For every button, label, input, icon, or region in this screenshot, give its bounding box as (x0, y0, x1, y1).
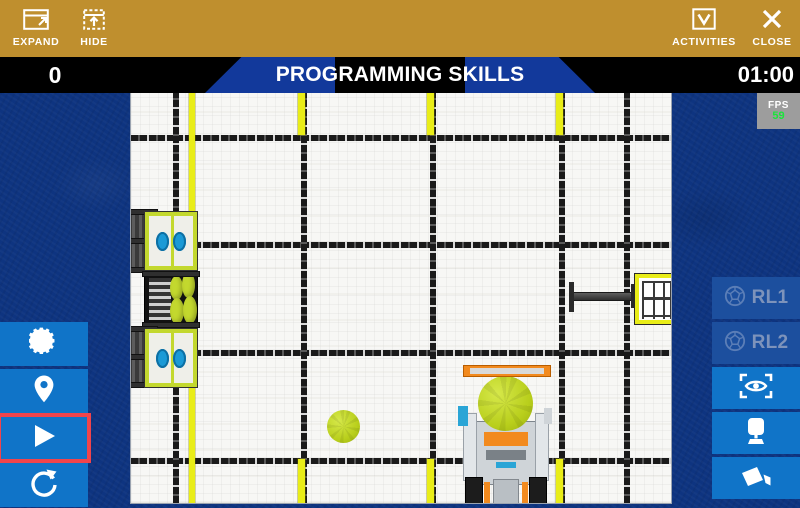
goal-marker (156, 349, 169, 368)
close-x-icon (761, 4, 783, 34)
top-toolbar: EXPAND HIDE ACTIVITIES (0, 0, 800, 57)
goal-bar (642, 281, 671, 283)
soccer-ball-icon (724, 330, 746, 357)
rl2-label: RL2 (752, 332, 789, 354)
tile-seam (430, 93, 436, 503)
goal-marker (173, 349, 186, 368)
tape-strip (556, 93, 563, 135)
match-header: 0 PROGRAMMING SKILLS 01:00 (0, 57, 800, 93)
goal-bar (642, 297, 671, 300)
camera-icon (739, 463, 773, 494)
goal-bar (642, 281, 644, 319)
goal-ladder (149, 278, 171, 320)
stored-ball (182, 274, 195, 298)
stored-ball (170, 276, 183, 300)
robot-lift-right (544, 408, 552, 424)
right-toolbar: RL1 RL2 (712, 277, 800, 502)
close-label: CLOSE (752, 36, 791, 48)
robot-electronics (486, 450, 526, 460)
run-button[interactable] (0, 416, 88, 460)
close-button[interactable]: CLOSE (736, 4, 800, 54)
brain-button[interactable] (712, 412, 800, 454)
refresh-icon (29, 468, 59, 503)
tape-strip (298, 459, 305, 503)
hide-panel-icon (83, 4, 105, 34)
position-button[interactable] (0, 369, 88, 413)
field-view[interactable]: FPS 59 (0, 93, 800, 508)
robot-brain-icon (742, 416, 770, 451)
robot-lift-left (458, 406, 468, 426)
robot-held-ball (478, 376, 533, 431)
score-display: 0 (0, 57, 110, 93)
rl2-button[interactable]: RL2 (712, 322, 800, 364)
simulator-window: EXPAND HIDE ACTIVITIES (0, 0, 800, 508)
goal-marker (156, 232, 169, 251)
tape-strip (298, 93, 305, 135)
vision-button[interactable] (712, 367, 800, 409)
tile-seam (131, 350, 671, 356)
field-ball-left[interactable] (327, 410, 360, 443)
page-title: PROGRAMMING SKILLS (200, 57, 600, 93)
fps-value: 59 (772, 111, 784, 122)
robot-wheel-hub (484, 482, 490, 503)
left-toolbar (0, 322, 88, 508)
goal-arm-cap (569, 282, 574, 312)
fps-indicator: FPS 59 (757, 93, 800, 129)
match-timer: 01:00 (684, 57, 794, 93)
stored-ball (183, 296, 197, 324)
activities-label: ACTIVITIES (672, 36, 736, 48)
goal-lower[interactable] (145, 329, 197, 387)
goal-bar (143, 272, 199, 276)
rl1-label: RL1 (752, 287, 789, 309)
competition-field[interactable] (131, 93, 671, 503)
tape-strip (427, 93, 434, 135)
hide-label: HIDE (80, 36, 108, 48)
expand-label: EXPAND (13, 36, 60, 48)
activities-button[interactable]: ACTIVITIES (668, 4, 740, 54)
robot-rear-plate (494, 480, 518, 503)
robot-intake-roller (470, 368, 544, 374)
tile-seam (301, 93, 307, 503)
goal-marker (173, 232, 186, 251)
gear-icon (29, 327, 59, 362)
tape-strip (427, 459, 434, 503)
checkbox-checked-icon (692, 4, 716, 34)
eye-focus-icon (738, 372, 774, 405)
goal-bar (663, 281, 665, 319)
camera-button[interactable] (712, 457, 800, 499)
tile-seam (131, 242, 671, 248)
location-pin-icon (32, 374, 56, 409)
tape-strip (556, 459, 563, 503)
goal-right[interactable] (635, 274, 671, 324)
soccer-ball-icon (724, 285, 746, 312)
goal-arm (571, 293, 635, 300)
goal-bar (653, 281, 655, 319)
reset-button[interactable] (0, 463, 88, 507)
robot-status-light (496, 462, 516, 468)
goal-middle-loaded[interactable] (145, 274, 197, 324)
goal-bar (642, 315, 671, 317)
robot-wheel (466, 478, 482, 503)
hide-button[interactable]: HIDE (58, 4, 130, 54)
tile-seam (131, 135, 671, 141)
settings-button[interactable] (0, 322, 88, 366)
robot-motor-block (484, 432, 528, 446)
robot-wheel-hub (522, 482, 528, 503)
robot[interactable] (456, 370, 556, 503)
rl1-button[interactable]: RL1 (712, 277, 800, 319)
goal-upper[interactable] (145, 212, 197, 270)
tile-seam (559, 93, 565, 503)
tile-seam (131, 458, 671, 464)
stored-ball (170, 298, 184, 324)
robot-wheel (530, 478, 546, 503)
play-icon (30, 422, 58, 455)
goal-bar (670, 281, 671, 319)
expand-window-icon (23, 4, 49, 34)
